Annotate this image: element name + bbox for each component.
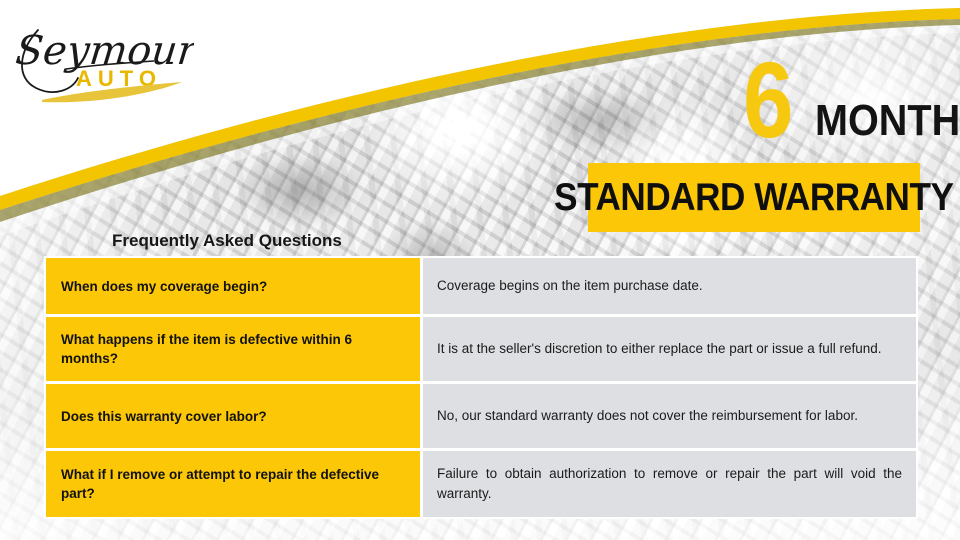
faq-table: When does my coverage begin? Coverage be…: [44, 256, 918, 519]
table-row: What if I remove or attempt to repair th…: [46, 451, 916, 517]
faq-answer-cell: Coverage begins on the item purchase dat…: [420, 258, 916, 314]
table-row: What happens if the item is defective wi…: [46, 317, 916, 384]
faq-answer-text: It is at the seller's discretion to eith…: [437, 339, 902, 359]
warranty-term-number: 6: [743, 46, 792, 154]
standard-warranty-banner: STANDARD WARRANTY: [588, 163, 920, 232]
faq-question-cell: Does this warranty cover labor?: [46, 384, 420, 448]
faq-question-cell: What happens if the item is defective wi…: [46, 317, 420, 381]
faq-answer-text: Failure to obtain authorization to remov…: [437, 464, 902, 504]
faq-answer-cell: It is at the seller's discretion to eith…: [420, 317, 916, 381]
seymour-auto-logo: Seymour AUTO: [14, 12, 194, 107]
table-row: When does my coverage begin? Coverage be…: [46, 258, 916, 317]
warranty-term: 6 MONTH: [735, 52, 930, 156]
faq-answer-cell: No, our standard warranty does not cover…: [420, 384, 916, 448]
faq-answer-cell: Failure to obtain authorization to remov…: [420, 451, 916, 517]
warranty-term-unit: MONTH: [815, 99, 960, 143]
faq-answer-text: Coverage begins on the item purchase dat…: [437, 276, 902, 296]
faq-answer-text: No, our standard warranty does not cover…: [437, 406, 902, 426]
table-row: Does this warranty cover labor? No, our …: [46, 384, 916, 451]
faq-heading: Frequently Asked Questions: [112, 231, 342, 251]
faq-question-cell: When does my coverage begin?: [46, 258, 420, 314]
warranty-slide: Seymour AUTO 6 MONTH STANDARD WARRANTY F…: [0, 0, 960, 540]
standard-warranty-banner-title: STANDARD WARRANTY: [554, 178, 953, 217]
faq-question-cell: What if I remove or attempt to repair th…: [46, 451, 420, 517]
